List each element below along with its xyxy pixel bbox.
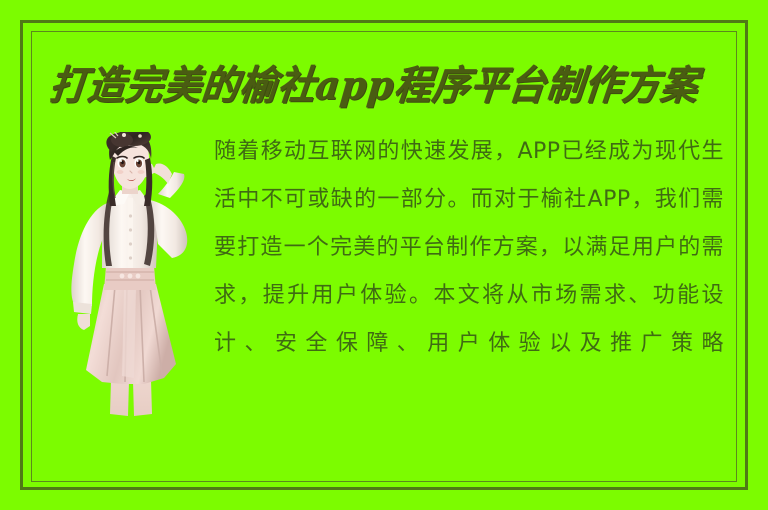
waist-belt (104, 266, 156, 290)
article-body: 随着移动互联网的快速发展，APP已经成为现代生活中不可或缺的一部分。而对于榆社A… (214, 128, 724, 368)
pleated-skirt (86, 284, 176, 384)
illustration-anime-girl (52, 132, 204, 420)
poster-card: 打造完美的榆社app程序平台制作方案 (0, 0, 768, 510)
page-title: 打造完美的榆社app程序平台制作方案 (47, 54, 724, 117)
